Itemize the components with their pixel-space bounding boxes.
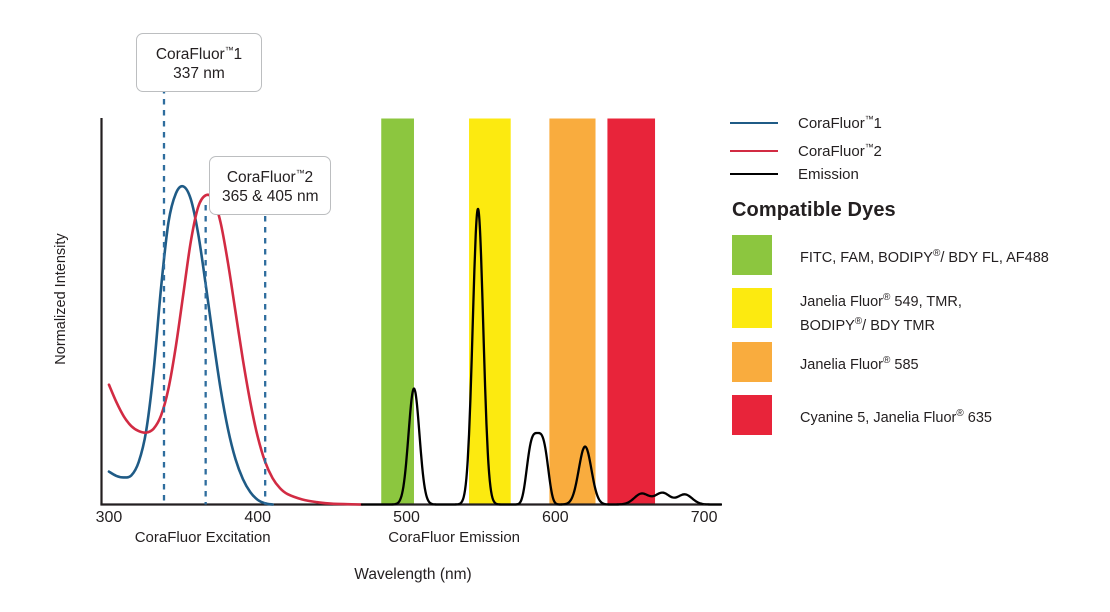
legend-series-number-1: 2: [874, 143, 882, 160]
callout-corafluor1-name: CoraFluor: [156, 46, 225, 63]
excitation-curve-0: [109, 186, 273, 504]
dye-item-2[interactable]: Janelia Fluor® 585: [732, 342, 919, 382]
callout-corafluor1-line1: CoraFluor™1: [149, 41, 249, 64]
dye-label-3: Cyanine 5, Janelia Fluor® 635: [800, 395, 992, 428]
dye-color-swatch-3: [732, 395, 772, 435]
callout-corafluor1-line2: 337 nm: [149, 64, 249, 83]
dye-label-1-line1: Janelia Fluor® 549, TMR,: [800, 288, 962, 312]
callout-corafluor2-name: CoraFluor: [227, 169, 296, 186]
registered-icon: ®: [956, 408, 963, 419]
dye-label-1: Janelia Fluor® 549, TMR,BODIPY®/ BDY TMR: [800, 288, 962, 336]
trademark-icon: ™: [865, 114, 874, 124]
callout-corafluor2-line2: 365 & 405 nm: [222, 187, 318, 206]
dye-band-2: [549, 119, 595, 505]
legend-series-item-0[interactable]: CoraFluor™1: [730, 114, 882, 132]
callout-corafluor2-number: 2: [305, 169, 314, 186]
x-axis-sublabel-excitation: CoraFluor Excitation: [93, 529, 313, 546]
dye-label-0-line1: FITC, FAM, BODIPY®/ BDY FL, AF488: [800, 244, 1049, 268]
x-tick-label-400: 400: [228, 509, 288, 527]
callout-corafluor1: CoraFluor™1 337 nm: [136, 33, 262, 92]
legend-series-name-1: CoraFluor: [798, 143, 865, 160]
trademark-icon: ™: [865, 142, 874, 152]
dye-label-3-line1-suffix: 635: [964, 410, 992, 426]
x-axis-title: Wavelength (nm): [303, 566, 523, 584]
x-tick-label-700: 700: [674, 509, 734, 527]
dye-label-3-line1-text: Cyanine 5, Janelia Fluor: [800, 410, 956, 426]
x-axis-sublabel-emission: CoraFluor Emission: [344, 529, 564, 546]
chart-page: CoraFluor™1 337 nm CoraFluor™2 365 & 405…: [0, 0, 1110, 612]
trademark-icon: ™: [296, 168, 305, 178]
dye-label-1-line1-text: Janelia Fluor: [800, 294, 883, 310]
dye-label-0: FITC, FAM, BODIPY®/ BDY FL, AF488: [800, 235, 1049, 268]
dye-label-1-line2: BODIPY®/ BDY TMR: [800, 312, 962, 336]
legend-line-swatch-1: [730, 150, 778, 152]
dye-label-3-line1: Cyanine 5, Janelia Fluor® 635: [800, 404, 992, 428]
dye-item-3[interactable]: Cyanine 5, Janelia Fluor® 635: [732, 395, 992, 435]
compatible-dyes-title: Compatible Dyes: [732, 199, 896, 222]
x-tick-label-300: 300: [79, 509, 139, 527]
x-tick-label-500: 500: [377, 509, 437, 527]
dye-label-2-line1-suffix: 585: [890, 357, 918, 373]
x-tick-label-600: 600: [525, 509, 585, 527]
dye-label-1-line2-suffix: / BDY TMR: [862, 318, 935, 334]
legend-series-name-0: CoraFluor: [798, 115, 865, 132]
dye-label-0-line1-suffix: / BDY FL, AF488: [940, 250, 1049, 266]
dye-color-swatch-1: [732, 288, 772, 328]
emission-curve: [362, 209, 721, 505]
dye-band-1: [469, 119, 511, 505]
legend-line-swatch-0: [730, 122, 778, 124]
legend-series-name-2: Emission: [798, 166, 859, 183]
dye-item-1[interactable]: Janelia Fluor® 549, TMR,BODIPY®/ BDY TMR: [732, 288, 962, 336]
dye-item-0[interactable]: FITC, FAM, BODIPY®/ BDY FL, AF488: [732, 235, 1049, 275]
legend-series-number-0: 1: [874, 115, 882, 132]
dye-label-0-line1-text: FITC, FAM, BODIPY: [800, 250, 933, 266]
dye-color-swatch-0: [732, 235, 772, 275]
legend-series-label-2: Emission: [798, 165, 859, 183]
trademark-icon: ™: [225, 45, 234, 55]
legend-series-label-0: CoraFluor™1: [798, 114, 882, 132]
callout-corafluor2-line1: CoraFluor™2: [222, 164, 318, 187]
legend-line-swatch-2: [730, 173, 778, 175]
y-axis-title: Normalized Intensity: [53, 219, 69, 379]
dye-band-0: [381, 119, 414, 505]
dye-color-swatch-2: [732, 342, 772, 382]
legend-series-label-1: CoraFluor™2: [798, 142, 882, 160]
dye-label-2-line1: Janelia Fluor® 585: [800, 351, 919, 375]
dye-label-1-line2-text: BODIPY: [800, 318, 855, 334]
callout-corafluor2: CoraFluor™2 365 & 405 nm: [209, 156, 331, 215]
dye-label-1-line1-suffix: 549, TMR,: [890, 294, 961, 310]
dye-band-3: [607, 119, 655, 505]
legend-panel: CoraFluor™1CoraFluor™2Emission Compatibl…: [730, 0, 1110, 612]
legend-series-item-2[interactable]: Emission: [730, 165, 859, 183]
legend-series-item-1[interactable]: CoraFluor™2: [730, 142, 882, 160]
dye-label-2: Janelia Fluor® 585: [800, 342, 919, 375]
dye-label-2-line1-text: Janelia Fluor: [800, 357, 883, 373]
callout-corafluor1-number: 1: [234, 46, 243, 63]
